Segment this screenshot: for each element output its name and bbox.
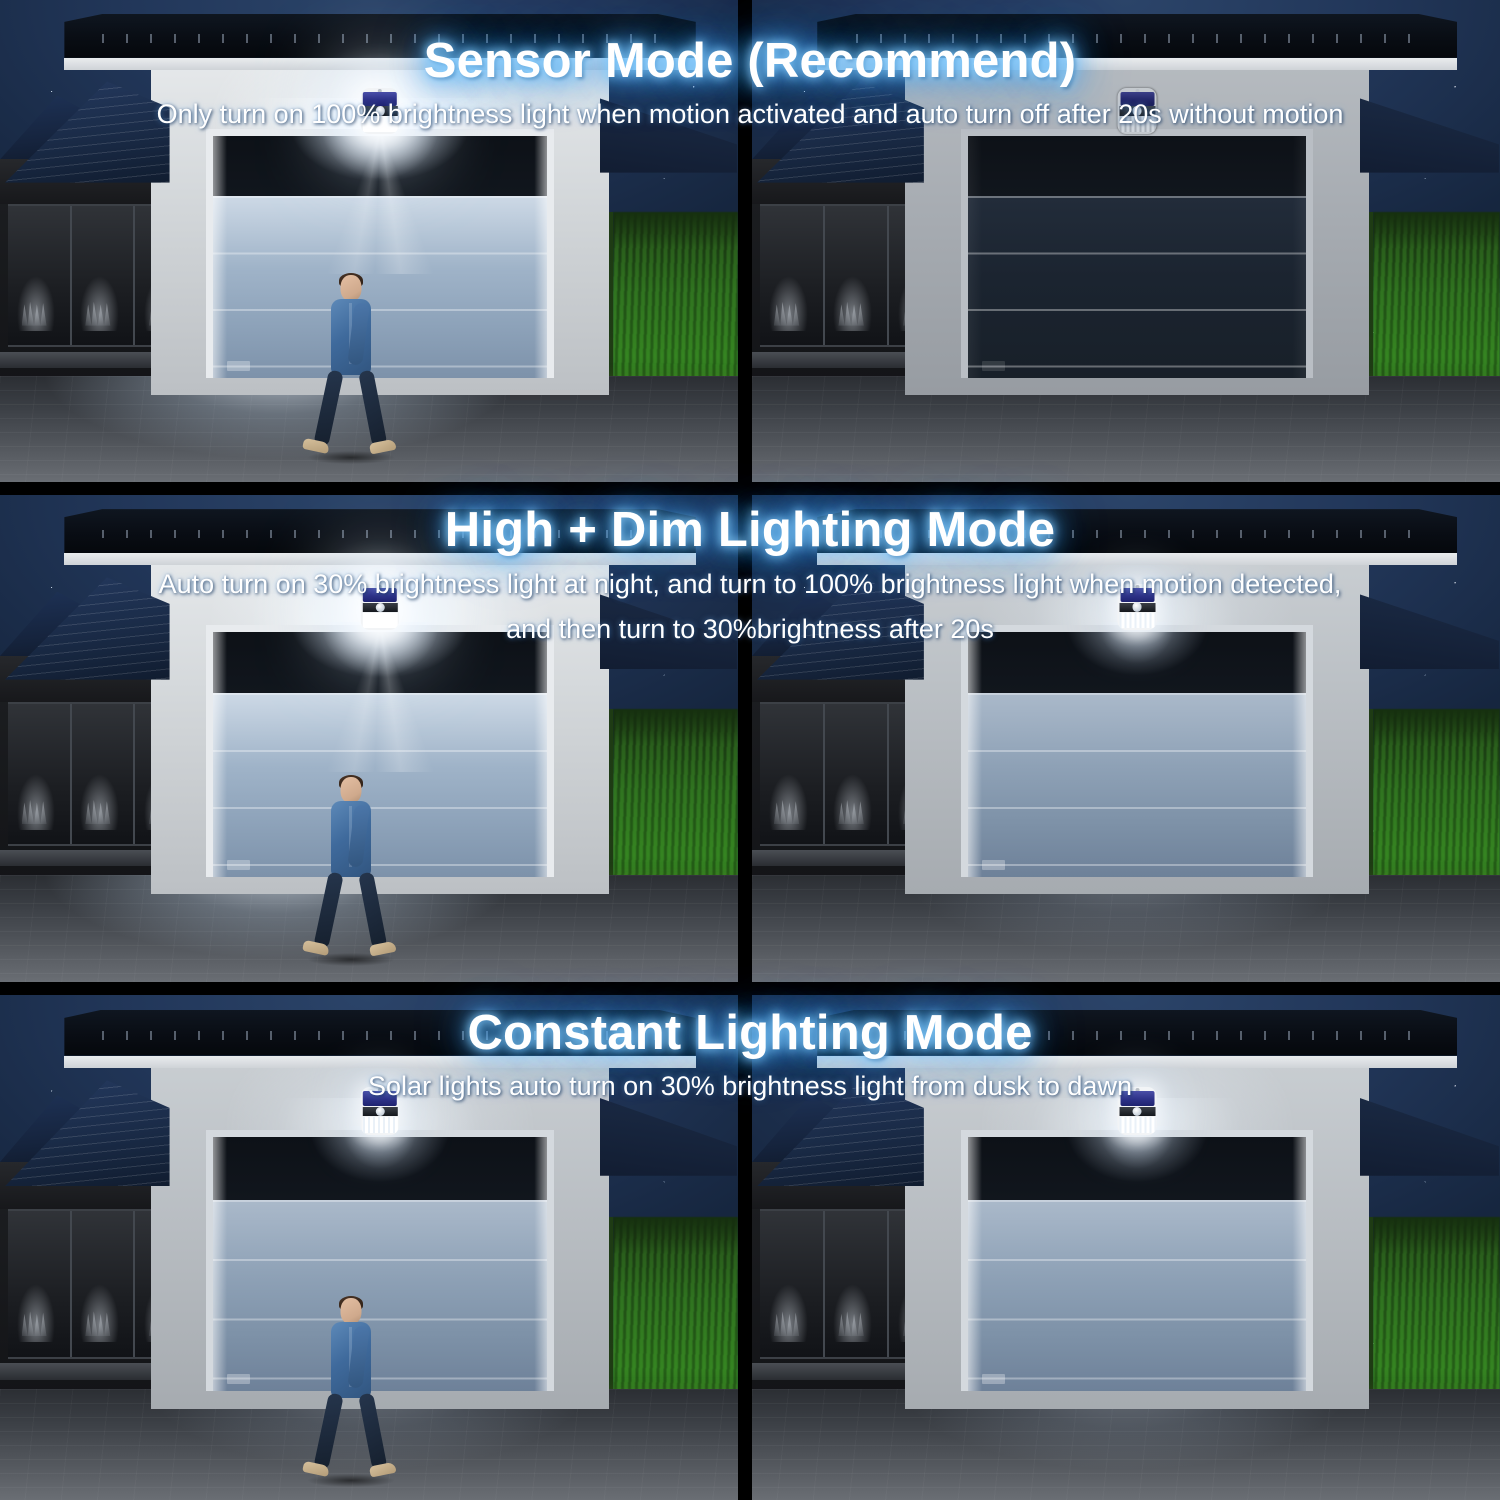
led-array [1119,1117,1155,1133]
panel-high-dim-left [0,495,738,982]
garage-door-panels [213,196,547,378]
garage-door-beam [250,1137,510,1206]
solar-panel [1120,588,1154,602]
eave-soffit [817,58,1457,70]
solar-panel [363,1091,397,1105]
panel-constant-left [0,995,738,1500]
roof-eave [64,1010,695,1056]
door-brand-plate [982,860,1006,870]
solar-panel [1120,1091,1154,1105]
garage-door [961,1130,1313,1392]
garage-building [151,553,609,894]
garage-building [905,1056,1369,1410]
solar-motion-sensor-wall-light [361,584,399,630]
pir-motion-sensor [1119,1107,1155,1117]
roof-eave [64,509,695,553]
product-infographic: Sensor Mode (Recommend) Only turn on 100… [0,0,1500,1500]
roof-eave [817,1010,1457,1056]
panel-sensor-mode-right [752,0,1500,482]
person-legs [329,371,373,453]
garage-door-panels [968,196,1306,378]
door-brand-plate [982,1374,1006,1384]
door-brand-plate [227,860,250,870]
person-legs [329,1394,373,1476]
solar-panel [1120,92,1154,106]
eave-soffit [64,1056,695,1068]
pir-lens-icon [375,106,384,115]
led-array [362,613,397,628]
panel-constant-right [752,995,1500,1500]
panel-high-dim-right [752,495,1500,982]
solar-motion-sensor-wall-light [1118,584,1157,630]
garage-door [206,1130,554,1392]
eave-soffit [64,553,695,565]
solar-panel [363,588,397,602]
door-brand-plate [227,1374,250,1384]
led-array [362,116,397,131]
pir-lens-icon [1133,106,1142,115]
pir-motion-sensor [362,603,397,612]
garage-building [905,58,1369,395]
door-edge-left [968,136,982,379]
eave-soffit [64,58,695,70]
door-brand-plate [982,361,1006,371]
person-head [340,275,361,301]
garage-door-beam [1005,1137,1269,1206]
eave-soffit [817,553,1457,565]
garage-door-panels [213,1200,547,1391]
garage-door [206,625,554,877]
led-array [362,1117,397,1133]
garage-door [206,129,554,379]
garage-door [961,625,1313,877]
door-edge-right [1293,632,1307,877]
garage-building [905,553,1369,894]
pir-motion-sensor [362,106,397,115]
garage-door-top [968,136,1306,197]
eave-soffit [817,1056,1457,1068]
garage-door-panels [968,693,1306,877]
pir-motion-sensor [362,1107,397,1117]
garage-building [151,1056,609,1410]
door-edge-right [534,1137,547,1392]
roof-eave [817,14,1457,58]
pir-lens-icon [1133,1107,1142,1116]
solar-panel [363,92,397,106]
door-edge-left [968,1137,982,1392]
pir-motion-sensor [1119,106,1155,115]
garage-door-beam [250,136,510,202]
pir-lens-icon [375,1107,384,1116]
roof-eave [64,14,695,58]
pir-lens-icon [375,603,384,612]
panel-divider-horizontal-1 [0,482,1500,495]
solar-motion-sensor-wall-light [361,88,399,134]
door-edge-right [534,136,547,379]
pir-lens-icon [1133,602,1142,611]
door-edge-left [213,1137,226,1392]
door-edge-right [534,632,547,877]
garage-door [961,129,1313,379]
garage-door-beam [1005,632,1269,698]
pir-motion-sensor [1119,603,1155,612]
solar-motion-sensor-wall-light [361,1087,399,1135]
garage-door-panels [213,693,547,877]
door-brand-plate [227,361,250,371]
door-edge-left [213,632,226,877]
door-edge-right [1293,136,1307,379]
solar-motion-sensor-wall-light [1118,1087,1157,1135]
led-array [1119,613,1155,628]
door-edge-left [968,632,982,877]
person-head [340,1298,361,1324]
panel-sensor-mode-left [0,0,738,482]
led-array [1119,116,1155,131]
garage-door-panels [968,1200,1306,1391]
garage-door-beam [250,632,510,698]
door-edge-left [213,136,226,379]
panel-divider-vertical [738,0,752,1500]
panel-divider-horizontal-2 [0,982,1500,995]
person-head [340,777,361,803]
garage-building [151,58,609,395]
person-legs [329,873,373,955]
roof-eave [817,509,1457,553]
door-edge-right [1293,1137,1307,1392]
solar-motion-sensor-wall-light [1118,88,1157,134]
